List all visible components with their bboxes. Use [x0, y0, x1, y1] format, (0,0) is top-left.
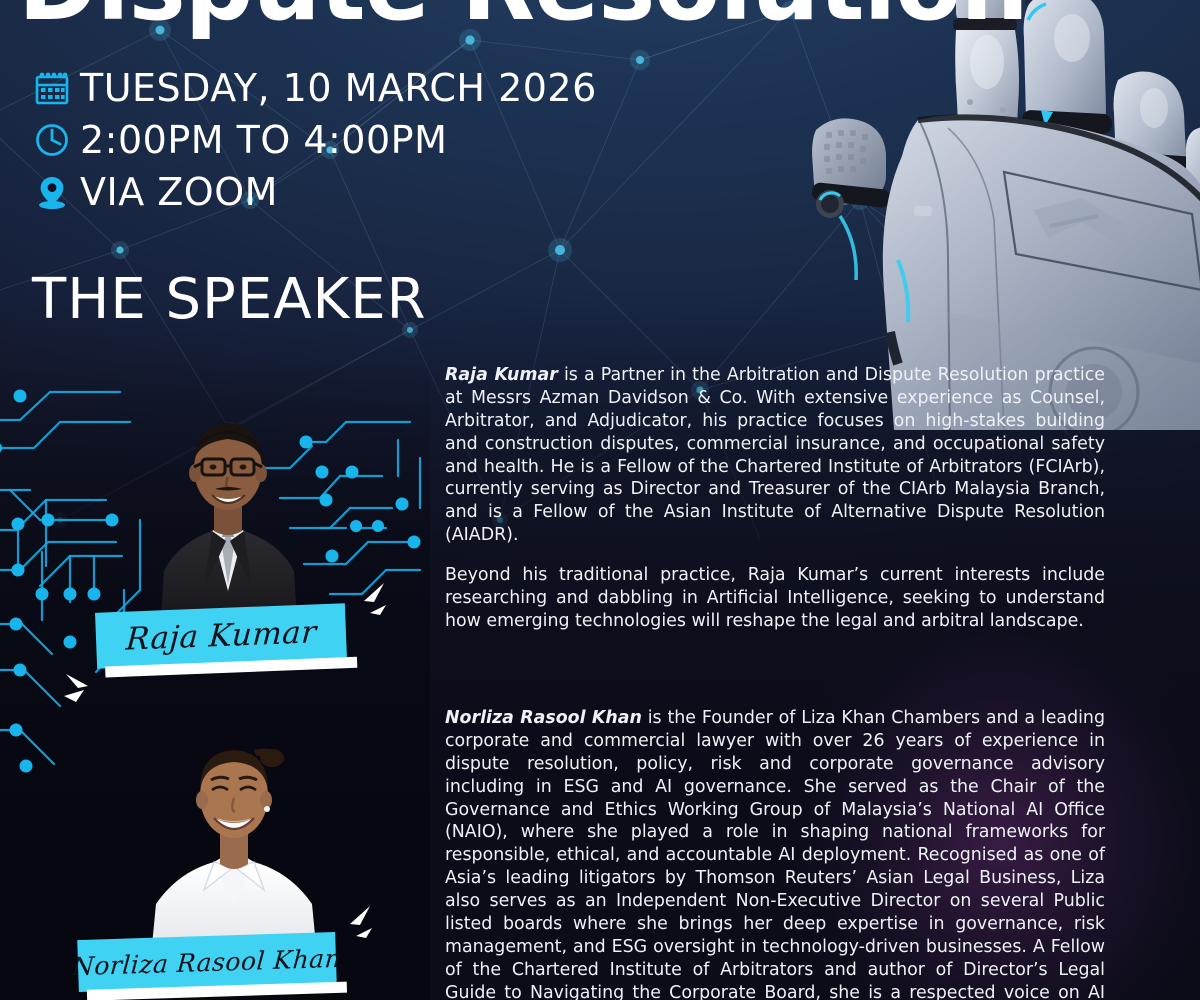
detail-row-time: 2:00PM TO 4:00PM	[24, 114, 597, 166]
bio-paragraph: Beyond his traditional practice, Raja Ku…	[445, 564, 1105, 633]
bio-paragraph: Norliza Rasool Khan is the Founder of Li…	[445, 707, 1105, 1000]
section-heading-the-speaker: THE SPEAKER	[32, 272, 427, 328]
accent-triangles-bottom-left-1	[64, 672, 102, 706]
event-date: TUESDAY, 10 MARCH 2026	[80, 69, 597, 107]
accent-triangles-top-right-2	[336, 906, 372, 940]
location-pin-icon	[24, 173, 80, 211]
bio-text: is a Partner in the Arbitration and Disp…	[445, 365, 1105, 545]
bio-text: is the Founder of Liza Khan Chambers and…	[445, 708, 1105, 1000]
event-time: 2:00PM TO 4:00PM	[80, 121, 447, 159]
speaker-photo-raja-kumar	[108, 385, 348, 635]
detail-row-venue: VIA ZOOM	[24, 166, 597, 218]
clock-icon	[24, 121, 80, 159]
speaker-name-norliza-rasool-khan: Norliza Rasool Khan	[71, 943, 342, 981]
bio-paragraph: Raja Kumar is a Partner in the Arbitrati…	[445, 364, 1105, 547]
accent-triangles-top-right-1	[350, 583, 386, 617]
calendar-icon	[24, 69, 80, 107]
name-banner-raja-kumar: Raja Kumar	[95, 603, 347, 669]
speaker-lead-name: Raja Kumar	[445, 365, 558, 385]
speaker-bio-raja-kumar: Raja Kumar is a Partner in the Arbitrati…	[445, 364, 1105, 633]
speaker-bio-norliza-rasool-khan: Norliza Rasool Khan is the Founder of Li…	[445, 707, 1105, 1000]
event-venue: VIA ZOOM	[80, 173, 278, 211]
speaker-name-raja-kumar: Raja Kumar	[125, 614, 318, 657]
event-details: TUESDAY, 10 MARCH 2026 2:00PM TO 4:00PM	[24, 62, 597, 218]
speaker-photo-norliza-rasool-khan	[126, 706, 342, 966]
name-banner-norliza-rasool-khan: Norliza Rasool Khan	[77, 932, 337, 992]
webinar-poster: Dispute Resolution TUESDAY,	[0, 0, 1200, 1000]
speaker-lead-name: Norliza Rasool Khan	[445, 708, 642, 728]
detail-row-date: TUESDAY, 10 MARCH 2026	[24, 62, 597, 114]
page-title: Dispute Resolution	[18, 0, 1028, 34]
